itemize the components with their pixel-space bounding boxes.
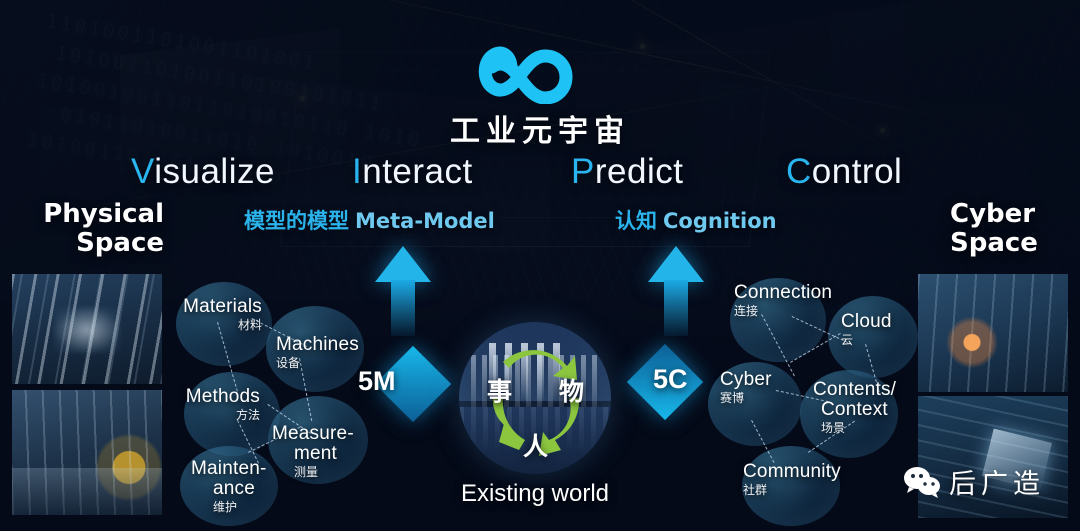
node-connection: Connection连接 (734, 283, 832, 319)
heading-control: Control (786, 152, 902, 192)
vipc-headings: Visualize Interact Predict Control (0, 152, 1080, 202)
watermark-text: 后广造 (949, 462, 1045, 501)
cjk-shi: 事 (487, 372, 512, 408)
cyber-space-label: CyberSpace (950, 200, 1080, 258)
node-methods: Methods方法 (150, 387, 260, 423)
up-arrow-meta-model (375, 246, 431, 336)
photo-factory-interior (12, 274, 162, 384)
cjk-wu: 物 (559, 372, 584, 408)
node-cyber: Cyber赛博 (720, 370, 772, 406)
watermark: 后广造 (903, 462, 1045, 501)
logo: 工业元宇宙 (0, 32, 1080, 150)
photo-factory-robot-line (12, 390, 162, 515)
node-maintenance: Mainten- ance 维护 (191, 459, 267, 515)
up-arrow-cognition (648, 246, 704, 336)
node-contents-context: Contents/ Context 场景 (813, 380, 896, 436)
node-machines: Machines设备 (276, 335, 359, 371)
node-measurement: Measure- ment 测量 (272, 424, 354, 480)
infinity-icon (475, 32, 605, 104)
sublabel-cognition: 认知Cognition (615, 205, 777, 235)
node-community: Community社群 (743, 462, 841, 498)
existing-world-caption: Existing world (400, 480, 670, 508)
sublabel-meta-model: 模型的模型Meta-Model (244, 205, 495, 235)
existing-world-circle: 事 物 人 (459, 322, 611, 474)
heading-predict: Predict (571, 152, 683, 192)
heading-visualize: Visualize (131, 152, 275, 192)
badge-5c: 5C (653, 364, 688, 395)
infographic-canvas: 1101001101001101001 10100110100110100101… (0, 0, 1080, 531)
cjk-ren: 人 (523, 427, 548, 463)
node-cloud: Cloud云 (841, 312, 892, 348)
badge-5m: 5M (358, 366, 396, 397)
heading-interact: Interact (352, 152, 473, 192)
photo-welding-robot (918, 274, 1068, 392)
logo-title: 工业元宇宙 (0, 106, 1080, 150)
physical-space-label: PhysicalSpace (14, 200, 164, 258)
wechat-icon (903, 466, 941, 498)
node-materials: Materials材料 (150, 297, 262, 333)
